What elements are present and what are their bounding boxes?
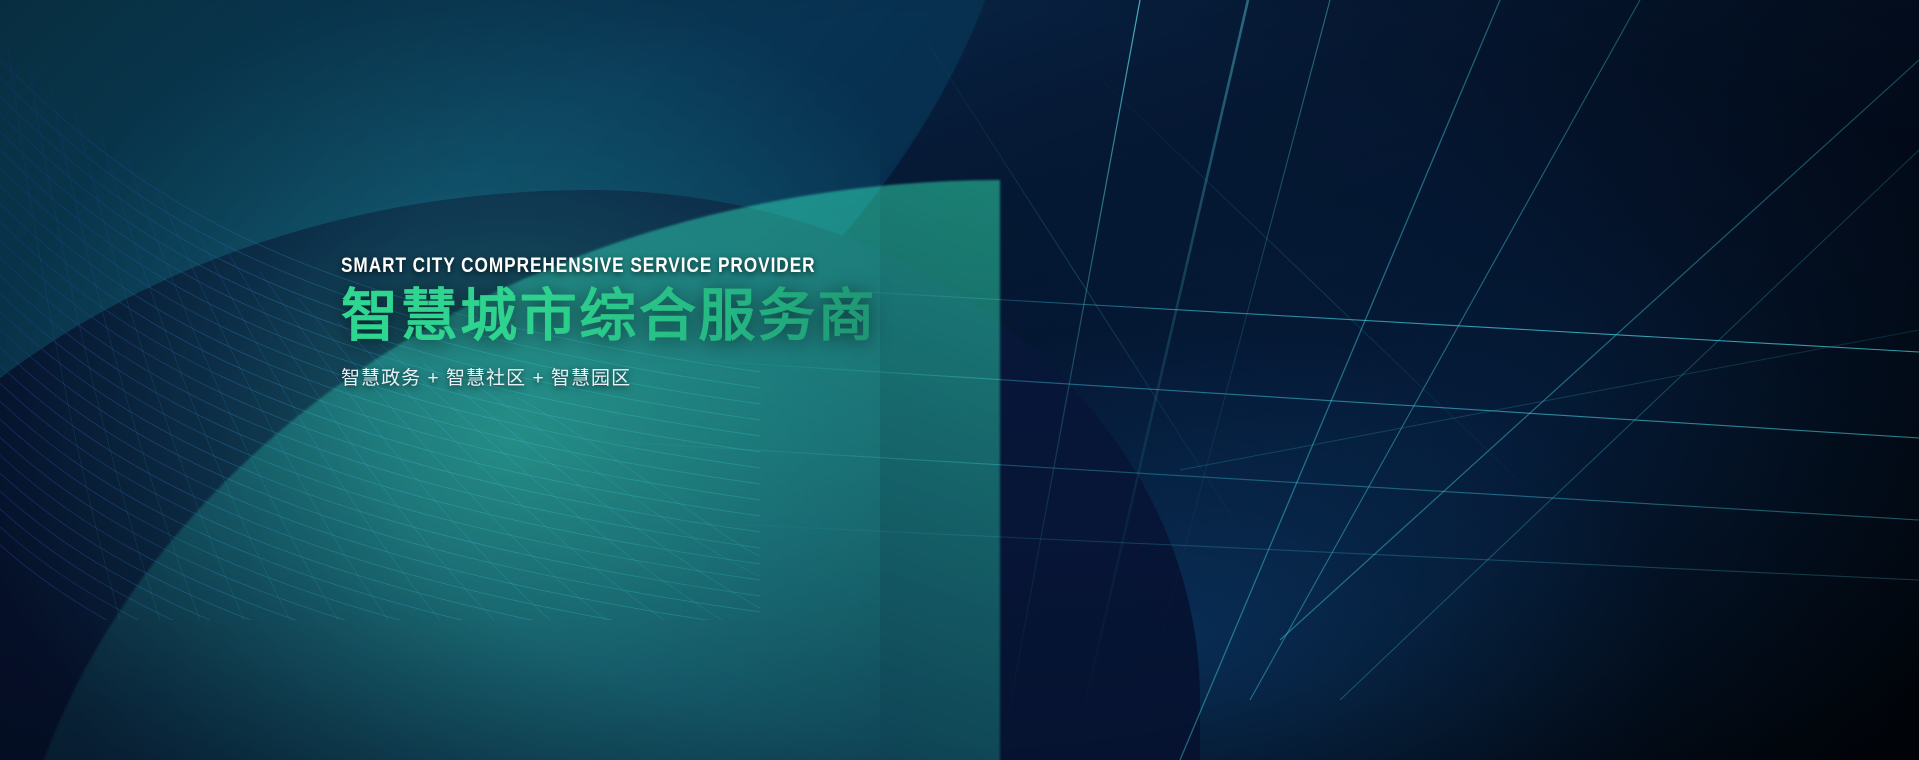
hero-banner: SMART CITY COMPREHENSIVE SERVICE PROVIDE…: [0, 0, 1919, 760]
subtitle: 智慧政务 + 智慧社区 + 智慧园区: [341, 363, 1101, 390]
page-title: 智慧城市综合服务商: [341, 286, 1101, 348]
hero-copy: SMART CITY COMPREHENSIVE SERVICE PROVIDE…: [341, 255, 1101, 390]
eyebrow-tagline: SMART CITY COMPREHENSIVE SERVICE PROVIDE…: [341, 255, 964, 277]
